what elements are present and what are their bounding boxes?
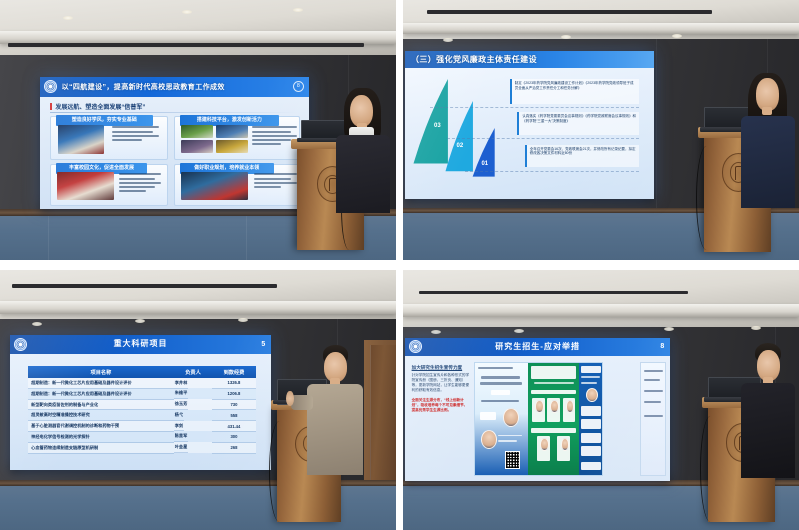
photo-collage: 以“四航建设”，提高新时代高校思政教育工作成效 8 发展远航、塑造全面发展“信普… — [0, 0, 799, 530]
speaker-head — [757, 350, 780, 381]
cell-funding: 1326.8 — [212, 378, 255, 388]
card-photo — [216, 140, 248, 153]
poster-portrait — [540, 438, 549, 451]
speaker-bottom-left — [305, 345, 368, 475]
slide-bullet-heading: 加大研究生招生宣传力度 — [412, 365, 470, 370]
speaker-bottom-right — [740, 343, 799, 478]
poster-text-block — [581, 419, 601, 429]
card-photo — [181, 140, 213, 153]
ceiling — [0, 0, 396, 57]
ceiling-light-icon — [32, 322, 42, 326]
poster-text-line — [581, 376, 600, 378]
ceiling-soffit — [0, 301, 396, 314]
speaker-neck — [762, 107, 772, 115]
slide-page-badge: 8 — [660, 343, 664, 350]
blade-01-shape — [465, 128, 507, 181]
side-text-line — [644, 379, 660, 381]
card-photo — [57, 172, 114, 200]
speaker-top-left — [333, 88, 396, 213]
slide-page-badge: 5 — [261, 341, 265, 348]
speaker-hand — [286, 391, 294, 407]
cell-funding: 268 — [212, 442, 255, 453]
poster-text-line — [498, 440, 516, 442]
slide-title-bar: 重大科研项目 5 — [10, 335, 271, 354]
poster-text-block — [581, 406, 601, 416]
cell-leader: 陈显军 — [174, 431, 189, 442]
cell-leader: 李井林 — [174, 378, 189, 389]
poster-headline-box — [531, 366, 576, 378]
card-photo — [181, 172, 248, 200]
card-text — [254, 173, 298, 190]
slide-surface: （三）强化党风廉政主体责任建设 03 02 01 — [405, 51, 654, 199]
side-text-line — [644, 370, 663, 372]
photo-panel-top-right: （三）强化党风廉政主体责任建设 03 02 01 — [403, 0, 799, 260]
speaker-torso — [307, 384, 363, 475]
ceiling-light-icon — [293, 8, 303, 12]
cell-project: 神经电化学信号检测的光学探针 — [28, 431, 174, 442]
qr-code-icon — [505, 451, 520, 470]
cell-funding: 730 — [212, 399, 255, 410]
blade-label-02: 02 — [447, 143, 472, 149]
column-header-leader: 负责人 — [174, 366, 213, 378]
poster-right-column — [579, 363, 602, 475]
ceiling-light-icon — [431, 330, 441, 334]
cell-project: 超灵敏高时空精准操控技术研究 — [28, 410, 174, 421]
slide-title: 研究生招生-应对举措 — [405, 341, 670, 352]
research-projects-table: 项目名称 负责人 到款经费 超期制造：新一代微化工芯片应用基础及器件设计评价 李… — [28, 366, 255, 453]
speaker-head — [350, 95, 373, 127]
cell-leader: 叶金星 — [174, 442, 189, 453]
ceiling-light-slot — [8, 43, 364, 47]
card-photo — [216, 125, 248, 138]
floor-seam — [246, 216, 247, 260]
slide-note: 认真落实《药学院党委委员会议事规则》《药学院党政联席会议事规则》和《药学院“三重… — [517, 112, 639, 135]
cell-leader: 徐玉芳 — [174, 399, 189, 410]
cell-project: 新型靶向类疫苗佐剂的制备与产业化 — [28, 399, 174, 410]
blade-label-01: 01 — [472, 161, 497, 167]
ceiling-soffit — [403, 304, 799, 317]
ceiling-light-slot — [12, 284, 277, 288]
table-row: 超期制造：新一代微化工芯片应用基础及器件设计评价 李井林 1326.8 — [28, 378, 255, 388]
ceiling-soffit — [403, 23, 799, 33]
slide-note: 全年召开党委会16次、党政联席会21次，并修改所有记录纪要，拟定修改各决策文件材… — [525, 145, 640, 168]
poster-title-line — [480, 382, 522, 385]
cell-funding: 431.44 — [212, 421, 255, 432]
ceiling-light-icon — [443, 38, 453, 42]
ceiling-light-icon — [514, 329, 524, 333]
poster-portrait — [586, 388, 598, 402]
guide-line — [447, 138, 639, 139]
slide-bullet-item-highlight: 全面关注生源分布，“线上创新计划”，吸收培养每个不可见素细节，提高优秀学生生源比… — [412, 398, 470, 413]
poster-banner — [581, 366, 601, 373]
ceiling-light-slot — [427, 10, 712, 13]
cell-funding: 300 — [212, 431, 255, 442]
slide-side-panel — [640, 362, 666, 476]
slide-title-bar: 以“四航建设”，提高新时代高校思政教育工作成效 8 — [40, 77, 309, 97]
poster-logo-line — [478, 367, 513, 369]
poster-title-line — [481, 376, 520, 379]
poster-portrait — [535, 400, 544, 413]
side-text-line — [644, 415, 663, 417]
speaker-torso — [336, 135, 389, 214]
poster-text-block — [581, 433, 601, 443]
ceiling — [0, 270, 396, 322]
cell-project: 心血管药物连续制造支链原型机研制 — [28, 442, 174, 453]
speaker-top-right — [740, 73, 799, 208]
slide-bullet-item: 针对学院招生宣传片和各种形式的学院宣传册（图册、三折页、通知）等，更新学院网站，… — [412, 373, 470, 393]
poster-left-column — [475, 363, 528, 475]
poster-middle-column — [528, 363, 579, 475]
column-header-project: 项目名称 — [28, 366, 174, 378]
projection-screen: 重大科研项目 5 项目名称 负责人 到款经费 超期制造：新一代微 — [10, 335, 271, 470]
card-photo — [181, 125, 213, 138]
cell-leader: 朱维平 — [174, 388, 189, 399]
poster-text-line — [498, 435, 522, 437]
photo-panel-bottom-left: 重大科研项目 5 项目名称 负责人 到款经费 超期制造：新一代微 — [0, 270, 396, 530]
slide-title-bar: （三）强化党风廉政主体责任建设 — [405, 51, 654, 69]
speaker-arm — [291, 395, 313, 411]
guide-line — [465, 171, 640, 172]
cable — [700, 416, 721, 523]
slide-page-badge: 8 — [293, 81, 304, 92]
recruitment-poster — [474, 362, 603, 476]
cell-project: 超期制造：新一代微化工芯片应用基础及器件设计评价 — [28, 378, 174, 388]
projection-screen: 以“四航建设”，提高新时代高校思政教育工作成效 8 发展远航、塑造全面发展“信普… — [40, 77, 309, 210]
speaker-head — [756, 78, 779, 110]
cell-leader: 李剑 — [174, 421, 184, 432]
slide-surface: 以“四航建设”，提高新时代高校思政教育工作成效 8 发展远航、塑造全面发展“信普… — [40, 77, 309, 210]
subtitle-rule — [50, 112, 298, 113]
wall-panel-seam — [656, 39, 657, 213]
speaker-torso — [741, 383, 796, 478]
poster-footer-bar — [581, 462, 601, 470]
table-row: 基于心脏测器官代谢调控机制的诊断和药物干预 李剑 431.44 — [28, 421, 255, 432]
poster-section-box — [531, 390, 576, 394]
poster-portrait — [550, 400, 559, 413]
slide-note: 制定《2023年药学院党风廉政建设工作计划》《2023年药学院党政领导班子成员全… — [510, 79, 640, 104]
slide-surface: 重大科研项目 5 项目名称 负责人 到款经费 超期制造：新一代微 — [10, 335, 271, 470]
side-text-line — [644, 401, 661, 403]
table-header-row: 项目名称 负责人 到款经费 — [28, 366, 255, 378]
cell-funding: 1206.8 — [212, 388, 255, 399]
poster-portrait — [503, 408, 519, 427]
photo-panel-top-left: 以“四航建设”，提高新时代高校思政教育工作成效 8 发展远航、塑造全面发展“信普… — [0, 0, 396, 260]
poster-badge — [491, 390, 510, 396]
speaker-torso — [741, 116, 796, 208]
poster-text-line — [534, 382, 575, 384]
ceiling — [403, 0, 799, 42]
column-header-funding: 到款经费 — [212, 366, 255, 378]
projection-screen: （三）强化党风廉政主体责任建设 03 02 01 — [405, 51, 654, 199]
photo-panel-bottom-right: 研究生招生-应对举措 8 加大研究生招生宣传力度 针对学院招生宣传片和各种形式的… — [403, 270, 799, 530]
poster-text-line — [481, 400, 518, 402]
slide-title: 以“四航建设”，提高新时代高校思政教育工作成效 — [62, 82, 225, 92]
door — [370, 345, 396, 485]
projection-screen: 研究生招生-应对举措 8 加大研究生招生宣传力度 针对学院招生宣传片和各种形式的… — [405, 338, 670, 481]
ceiling-light-icon — [238, 318, 248, 322]
poster-name-tag — [480, 412, 496, 420]
poster-text-block — [581, 446, 601, 456]
slide-subtitle: 发展远航、塑造全面发展“信普军” — [50, 102, 145, 111]
table-row: 新型靶向类疫苗佐剂的制备与产业化 徐玉芳 730 — [28, 399, 255, 410]
floor-seam — [48, 216, 49, 260]
poster-section-box — [531, 428, 576, 432]
ceiling-light-icon — [63, 16, 73, 20]
blade-label-03: 03 — [425, 123, 450, 129]
card-text — [112, 126, 160, 143]
card-photo — [58, 125, 104, 154]
slide-title-bar: 研究生招生-应对举措 8 — [405, 338, 670, 357]
cell-leader: 杨弋 — [174, 410, 184, 421]
slide-title: （三）强化党风廉政主体责任建设 — [411, 54, 537, 65]
slide-surface: 研究生招生-应对举措 8 加大研究生招生宣传力度 针对学院招生宣传片和各种形式的… — [405, 338, 670, 481]
guide-line — [430, 107, 640, 108]
table-row: 超期制造：新一代微化工芯片应用基础及器件设计评价 朱维平 1206.8 — [28, 388, 255, 399]
ceiling-light-icon — [672, 34, 682, 38]
slide-title: 重大科研项目 — [10, 338, 271, 349]
poster-portrait — [481, 430, 497, 449]
poster-text-line — [581, 382, 597, 384]
university-logo-icon — [44, 80, 57, 93]
table-row: 超灵敏高时空精准操控技术研究 杨弋 558 — [28, 410, 255, 421]
slide-body: 03 02 01 制定《2023年药学院党风廉政建设工作计划》《2023年药学院… — [405, 73, 654, 199]
ceiling-light-slot — [419, 291, 688, 294]
cell-funding: 558 — [212, 410, 255, 421]
card-text — [119, 173, 162, 194]
cell-project: 基于心脏测器官代谢调控机制的诊断和药物干预 — [28, 421, 174, 432]
cable — [269, 421, 290, 522]
slide-bullet-list: 加大研究生招生宣传力度 针对学院招生宣传片和各种形式的学院宣传册（图册、三折页、… — [412, 365, 470, 413]
table-row: 心血管药物连续制造支链原型机研制 叶金星 268 — [28, 442, 255, 453]
cell-project: 超期制造：新一代微化工芯片应用基础及器件设计评价 — [28, 388, 174, 399]
table-row: 神经电化学信号检测的光学探针 陈显军 300 — [28, 431, 255, 442]
side-text-line — [644, 390, 663, 392]
ceiling — [403, 270, 799, 330]
cable — [696, 146, 717, 250]
